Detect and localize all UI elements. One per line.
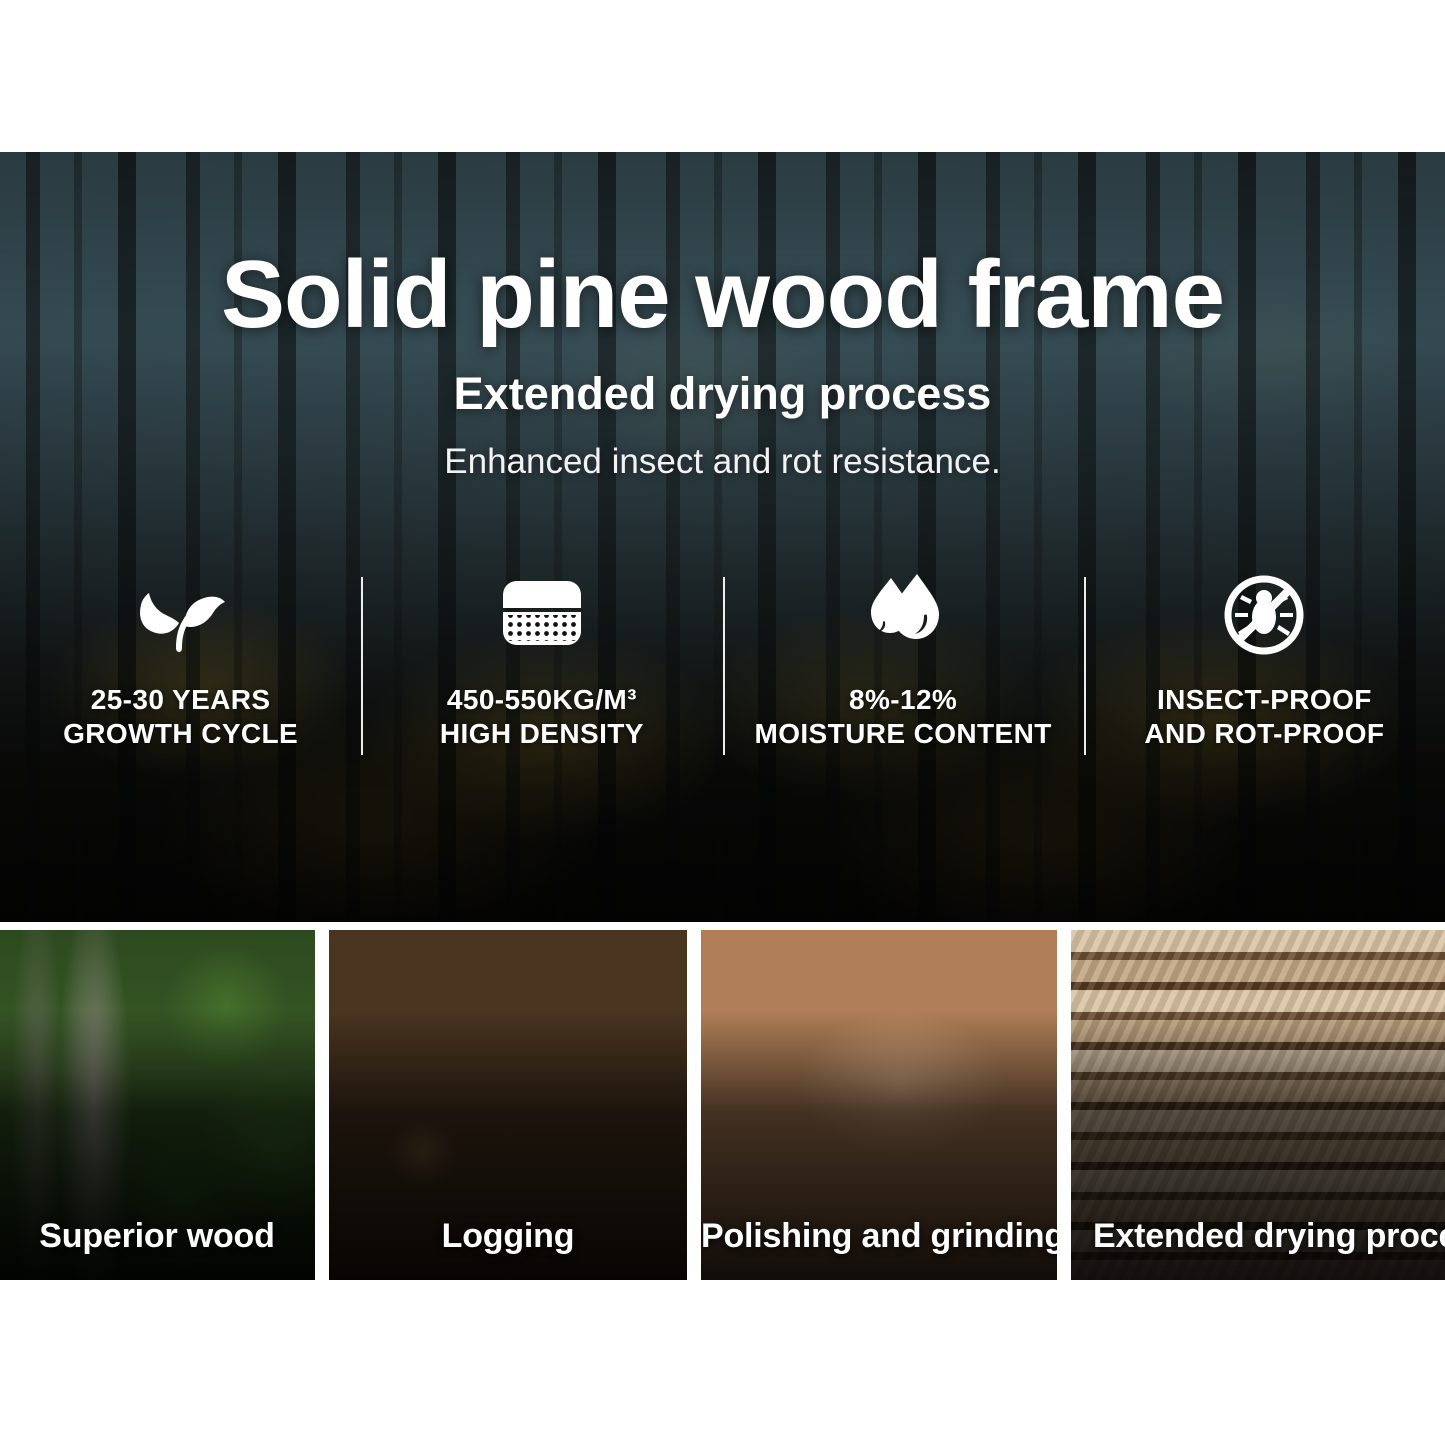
feature-label: 450-550KG/M³ HIGH DENSITY <box>440 683 644 751</box>
feature-label: INSECT-PROOF AND ROT-PROOF <box>1144 683 1384 751</box>
feature-growth-cycle: 25-30 YEARS GROWTH CYCLE <box>0 567 361 767</box>
gallery-caption: Superior wood <box>0 1217 315 1256</box>
infographic-page: Solid pine wood frame Extended drying pr… <box>0 0 1445 1445</box>
gallery-panel-drying[interactable]: Extended drying process <box>1071 930 1445 1280</box>
hero-content: Solid pine wood frame Extended drying pr… <box>0 152 1445 922</box>
gallery-panel-superior-wood[interactable]: Superior wood <box>0 930 315 1280</box>
feature-label: 8%-12% MOISTURE CONTENT <box>754 683 1051 751</box>
leaf-sprout-icon <box>135 569 227 661</box>
hero-section: Solid pine wood frame Extended drying pr… <box>0 152 1445 922</box>
gallery-caption: Extended drying process <box>1071 1217 1445 1256</box>
water-drops-icon <box>857 569 949 661</box>
hero-title: Solid pine wood frame <box>0 247 1445 343</box>
gallery-panel-polishing[interactable]: Polishing and grinding <box>701 930 1057 1280</box>
gallery-panel-logging[interactable]: Logging <box>329 930 687 1280</box>
feature-row: 25-30 YEARS GROWTH CYCLE <box>0 567 1445 767</box>
gallery-caption: Polishing and grinding <box>701 1217 1057 1256</box>
gallery-caption: Logging <box>329 1217 687 1256</box>
feature-moisture-content: 8%-12% MOISTURE CONTENT <box>723 567 1084 767</box>
feature-insect-rot-proof: INSECT-PROOF AND ROT-PROOF <box>1084 567 1445 767</box>
feature-high-density: 450-550KG/M³ HIGH DENSITY <box>361 567 722 767</box>
top-white-band <box>0 0 1445 152</box>
hero-subtitle: Extended drying process <box>0 368 1445 420</box>
no-insect-icon <box>1220 569 1308 661</box>
hero-tagline: Enhanced insect and rot resistance. <box>0 442 1445 482</box>
density-layers-icon <box>497 569 587 661</box>
gallery-strip: Superior wood Logging Polishing and grin… <box>0 930 1445 1280</box>
feature-label: 25-30 YEARS GROWTH CYCLE <box>63 683 298 751</box>
